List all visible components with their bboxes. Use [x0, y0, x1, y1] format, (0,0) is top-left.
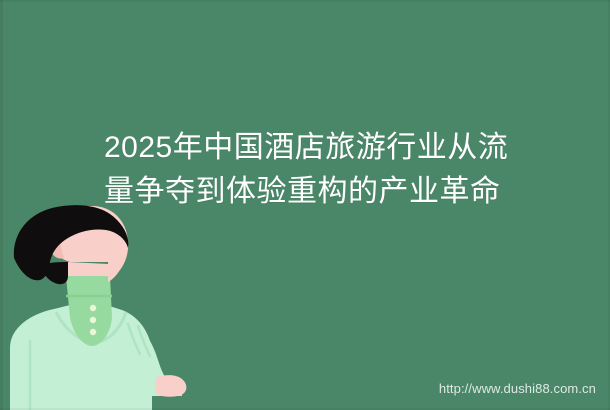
page-title: 2025年中国酒店旅游行业从流 量争夺到体验重构的产业革命 — [104, 126, 544, 214]
collar-buttons — [90, 305, 96, 335]
watermark-url: http://www.dushi88.com.cn — [439, 381, 596, 396]
title-line-2: 量争夺到体验重构的产业革命 — [104, 170, 544, 214]
cover-canvas: 2025年中国酒店旅游行业从流 量争夺到体验重构的产业革命 http://www… — [0, 0, 610, 410]
title-line-1: 2025年中国酒店旅游行业从流 — [104, 126, 544, 170]
hand — [155, 375, 186, 397]
person-illustration — [0, 200, 230, 410]
